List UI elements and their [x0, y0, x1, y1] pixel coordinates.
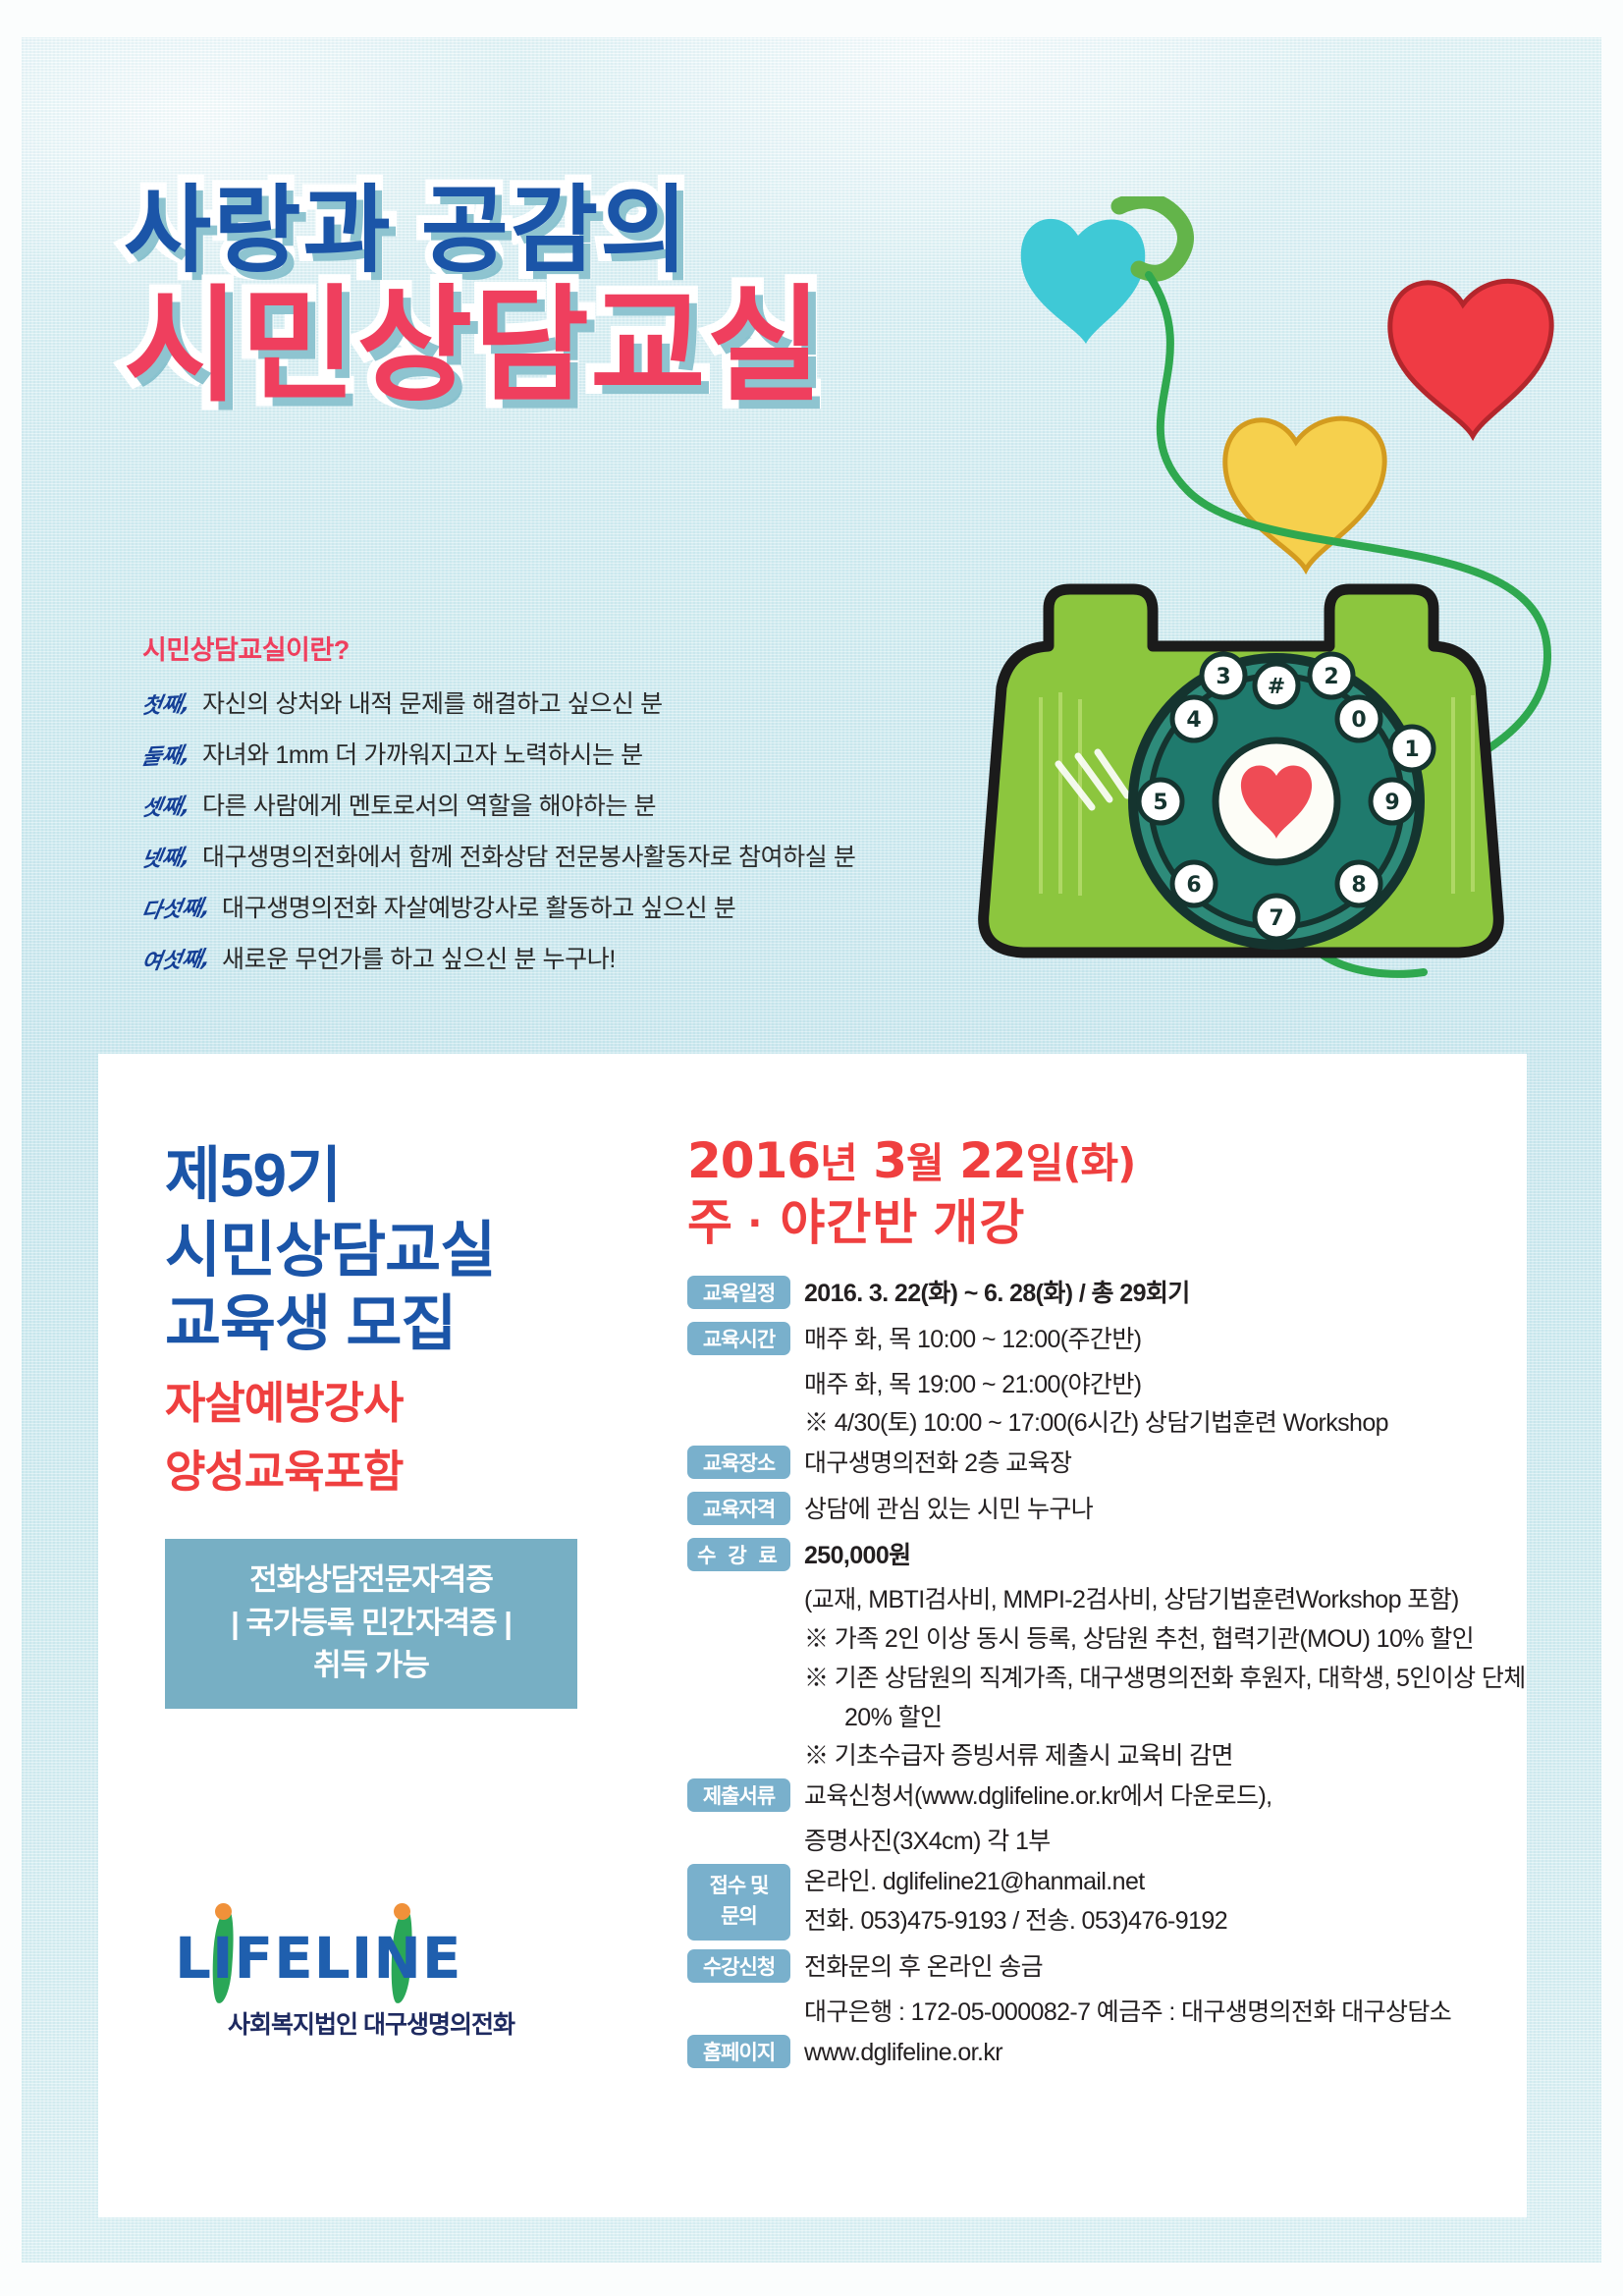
course-headline-line-2: 시민상담교실	[165, 1214, 587, 1288]
intro-text: 대구생명의전화에서 함께 전화상담 전문봉사활동자로 참여하실 분	[202, 838, 856, 873]
row-badge: 교육장소	[687, 1446, 790, 1479]
row-value: www.dglifeline.or.kr	[804, 2032, 1002, 2072]
intro-text: 다른 사람에게 멘토로서의 역할을 해야하는 분	[202, 787, 656, 822]
course-headline-line-3: 교육생 모집	[165, 1287, 587, 1362]
intro-item: 셋째, 다른 사람에게 멘토로서의 역할을 해야하는 분	[142, 787, 987, 822]
open-date-day-suffix: 일(화)	[1026, 1139, 1136, 1187]
svg-text:3: 3	[1216, 665, 1230, 689]
row-badge: 교육시간	[687, 1322, 790, 1355]
row-badge: 홈페이지	[687, 2035, 790, 2068]
row-badge-line-2: 문의	[721, 1902, 757, 1932]
row-value: 매주 화, 목 10:00 ~ 12:00(주간반)	[804, 1319, 1141, 1359]
rotary-telephone-icon: # 0 9 8 7 6 5 4 3 2 1	[962, 530, 1571, 972]
row-value-group: 온라인. dglifeline21@hanmail.net 전화. 053)47…	[804, 1861, 1227, 1941]
intro-text: 자신의 상처와 내적 문제를 해결하고 싶으신 분	[202, 684, 663, 720]
intro-text: 자녀와 1mm 더 가까워지고자 노력하시는 분	[202, 736, 643, 771]
row-extra: 증명사진(3X4cm) 각 1부	[804, 1822, 1551, 1861]
svg-text:6: 6	[1186, 873, 1201, 898]
svg-text:8: 8	[1351, 873, 1366, 898]
detail-rows: 교육일정 2016. 3. 22(화) ~ 6. 28(화) / 총 29회기 …	[687, 1273, 1551, 2071]
intro-heading: 시민상담교실이란?	[142, 629, 987, 667]
row-value: 온라인. dglifeline21@hanmail.net	[804, 1861, 1227, 1901]
row-value: 대구생명의전화 2층 교육장	[804, 1443, 1071, 1483]
detail-row: 홈페이지 www.dglifeline.or.kr	[687, 2032, 1551, 2072]
detail-row: 수 강 료 250,000원	[687, 1535, 1551, 1575]
intro-item: 다섯째, 대구생명의전화 자살예방강사로 활동하고 싶으신 분	[142, 889, 987, 924]
row-extra: ※ 4/30(토) 10:00 ~ 17:00(6시간) 상담기법훈련 Work…	[804, 1403, 1551, 1443]
course-headline-line-1: 제59기	[165, 1139, 587, 1214]
intro-ordinal: 둘째,	[139, 738, 196, 772]
right-column: 2016년 3월 22일(화) 주 · 야간반 개강 교육일정 2016. 3.…	[687, 1131, 1551, 2077]
open-date-month: 3	[873, 1132, 906, 1189]
course-subline-2: 양성교육포함	[165, 1445, 587, 1500]
course-subline-1: 자살예방강사	[165, 1376, 587, 1431]
row-value: 교육신청서(www.dglifeline.or.kr에서 다운로드),	[804, 1776, 1272, 1816]
dot-icon	[215, 1903, 232, 1920]
intro-item: 여섯째, 새로운 무언가를 하고 싶으신 분 누구나!	[142, 940, 987, 975]
certificate-line-1: 전화상담전문자격증	[175, 1558, 568, 1601]
paper-left-edge	[0, 0, 22, 2296]
detail-row: 수강신청 전화문의 후 온라인 송금	[687, 1946, 1551, 1987]
svg-text:7: 7	[1269, 906, 1283, 931]
open-date-year: 2016	[687, 1132, 820, 1189]
detail-row: 교육장소 대구생명의전화 2층 교육장	[687, 1443, 1551, 1483]
paper-bottom-edge	[0, 2263, 1623, 2296]
svg-text:1: 1	[1404, 738, 1419, 762]
intro-block: 시민상담교실이란? 첫째, 자신의 상처와 내적 문제를 해결하고 싶으신 분 …	[142, 629, 987, 991]
intro-ordinal: 첫째,	[139, 686, 196, 721]
open-date-year-suffix: 년	[820, 1139, 857, 1187]
left-column: 제59기 시민상담교실 교육생 모집 자살예방강사 양성교육포함 전화상담전문자…	[165, 1139, 587, 1709]
row-badge: 교육자격	[687, 1492, 790, 1525]
svg-text:0: 0	[1351, 708, 1366, 733]
row-extra: 대구은행 : 172-05-000082-7 예금주 : 대구생명의전화 대구상…	[804, 1993, 1551, 2032]
title-line-1: 사랑과 공감의	[124, 183, 824, 278]
intro-ordinal: 넷째,	[139, 840, 196, 874]
row-badge: 접수 및 문의	[687, 1864, 790, 1941]
intro-ordinal: 여섯째,	[139, 941, 216, 976]
row-badge: 교육일정	[687, 1276, 790, 1309]
logo-wordmark-group: LIFELINE	[175, 1925, 528, 1997]
intro-text: 대구생명의전화 자살예방강사로 활동하고 싶으신 분	[222, 889, 735, 924]
title-line-2: 시민상담교실	[124, 284, 824, 410]
row-extra: ※ 기존 상담원의 직계가족, 대구생명의전화 후원자, 대학생, 5인이상 단…	[804, 1659, 1551, 1698]
poster-title-block: 사랑과 공감의 시민상담교실	[124, 183, 824, 410]
certificate-line-2: | 국가등록 민간자격증 |	[175, 1602, 568, 1644]
open-class: 주 · 야간반 개강	[687, 1191, 1551, 1255]
intro-item: 넷째, 대구생명의전화에서 함께 전화상담 전문봉사활동자로 참여하실 분	[142, 838, 987, 873]
svg-text:5: 5	[1153, 791, 1167, 815]
row-value: 전화문의 후 온라인 송금	[804, 1946, 1043, 1987]
paper-top-edge	[0, 0, 1623, 37]
row-badge: 수강신청	[687, 1949, 790, 1983]
dot-icon	[394, 1903, 410, 1920]
lifeline-logo: LIFELINE 사회복지법인 대구생명의전화	[175, 1925, 528, 2041]
row-extra: 전화. 053)475-9193 / 전송. 053)476-9192	[804, 1900, 1227, 1941]
detail-row: 교육자격 상담에 관심 있는 시민 누구나	[687, 1489, 1551, 1529]
open-date-day: 22	[959, 1132, 1026, 1189]
intro-item: 둘째, 자녀와 1mm 더 가까워지고자 노력하시는 분	[142, 736, 987, 771]
open-date: 2016년 3월 22일(화)	[687, 1131, 1551, 1191]
svg-text:#: #	[1268, 675, 1285, 699]
logo-wordmark: LIFELINE	[175, 1925, 461, 1992]
row-badge-line-1: 접수 및	[710, 1872, 769, 1901]
heart-teal-icon	[1021, 219, 1146, 344]
intro-item: 첫째, 자신의 상처와 내적 문제를 해결하고 싶으신 분	[142, 684, 987, 720]
intro-text: 새로운 무언가를 하고 싶으신 분 누구나!	[222, 940, 616, 975]
detail-row: 접수 및 문의 온라인. dglifeline21@hanmail.net 전화…	[687, 1861, 1551, 1941]
row-extra: (교재, MBTI검사비, MMPI-2검사비, 상담기법훈련Workshop …	[804, 1580, 1551, 1619]
row-extra: 20% 할인	[844, 1698, 1551, 1737]
svg-text:4: 4	[1186, 708, 1201, 733]
certificate-box: 전화상담전문자격증 | 국가등록 민간자격증 | 취득 가능	[165, 1539, 577, 1708]
detail-row: 교육시간 매주 화, 목 10:00 ~ 12:00(주간반)	[687, 1319, 1551, 1359]
svg-text:9: 9	[1384, 791, 1399, 815]
svg-text:2: 2	[1324, 665, 1338, 689]
open-date-month-suffix: 월	[906, 1139, 944, 1187]
detail-row: 교육일정 2016. 3. 22(화) ~ 6. 28(화) / 총 29회기	[687, 1273, 1551, 1313]
row-badge: 수 강 료	[687, 1538, 790, 1571]
row-extra: 매주 화, 목 19:00 ~ 21:00(야간반)	[804, 1365, 1551, 1404]
intro-ordinal: 다섯째,	[139, 890, 216, 925]
poster-canvas: 사랑과 공감의 시민상담교실	[0, 0, 1623, 2296]
row-extra: ※ 기초수급자 증빙서류 제출시 교육비 감면	[804, 1736, 1551, 1776]
detail-row: 제출서류 교육신청서(www.dglifeline.or.kr에서 다운로드),	[687, 1776, 1551, 1816]
row-badge: 제출서류	[687, 1778, 790, 1812]
heart-red-icon	[1390, 281, 1551, 436]
row-value: 상담에 관심 있는 시민 누구나	[804, 1489, 1093, 1529]
row-extra: ※ 가족 2인 이상 동시 등록, 상담원 추천, 협력기관(MOU) 10% …	[804, 1619, 1551, 1659]
certificate-line-3: 취득 가능	[175, 1644, 568, 1686]
row-value: 2016. 3. 22(화) ~ 6. 28(화) / 총 29회기	[804, 1273, 1190, 1313]
row-value: 250,000원	[804, 1535, 911, 1575]
intro-ordinal: 셋째,	[139, 789, 196, 823]
logo-subtitle: 사회복지법인 대구생명의전화	[228, 2005, 528, 2041]
